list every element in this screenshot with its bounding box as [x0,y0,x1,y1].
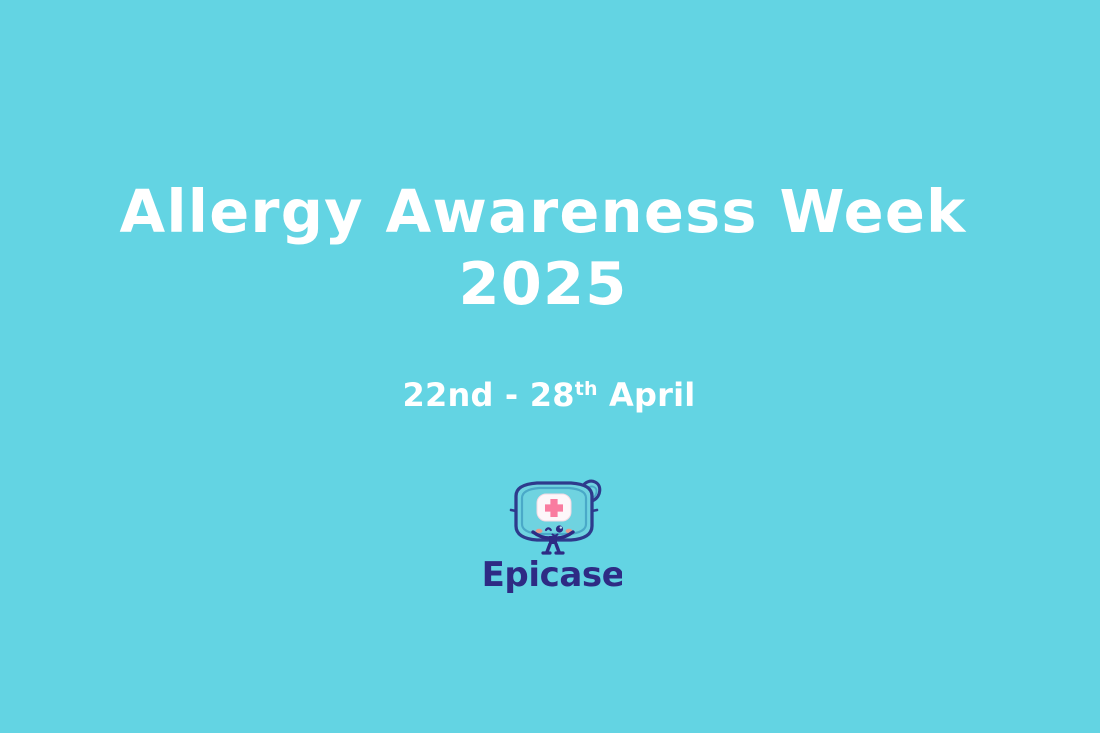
page-title-line-2: 2025 [0,248,1086,320]
date-end-ordinal-suffix: th [575,378,598,400]
date-separator-3 [598,376,609,414]
medical-cross-icon [537,494,571,521]
date-separator-2 [518,376,529,414]
brand-name-text: Epicase [484,555,622,595]
poster-title: Allergy Awareness Week 2025 [0,176,1086,320]
poster-canvas: Allergy Awareness Week 2025 22nd - 28th … [0,0,1100,733]
brand-wordmark: Epicase [484,554,622,596]
page-title-line-1: Allergy Awareness Week [0,176,1086,248]
eye-right [555,525,562,532]
date-start: 22nd [403,376,494,414]
date-end: 28 [530,376,575,414]
brand-logo: Epicase [470,474,635,596]
mouth [552,535,557,536]
date-range-text: 22nd - 28th April [403,376,696,414]
first-aid-case-character-icon [497,474,609,556]
date-month: April [609,376,695,414]
poster-date-range: 22nd - 28th April [0,369,1098,415]
date-separator [494,376,505,414]
date-dash: - [505,376,518,414]
